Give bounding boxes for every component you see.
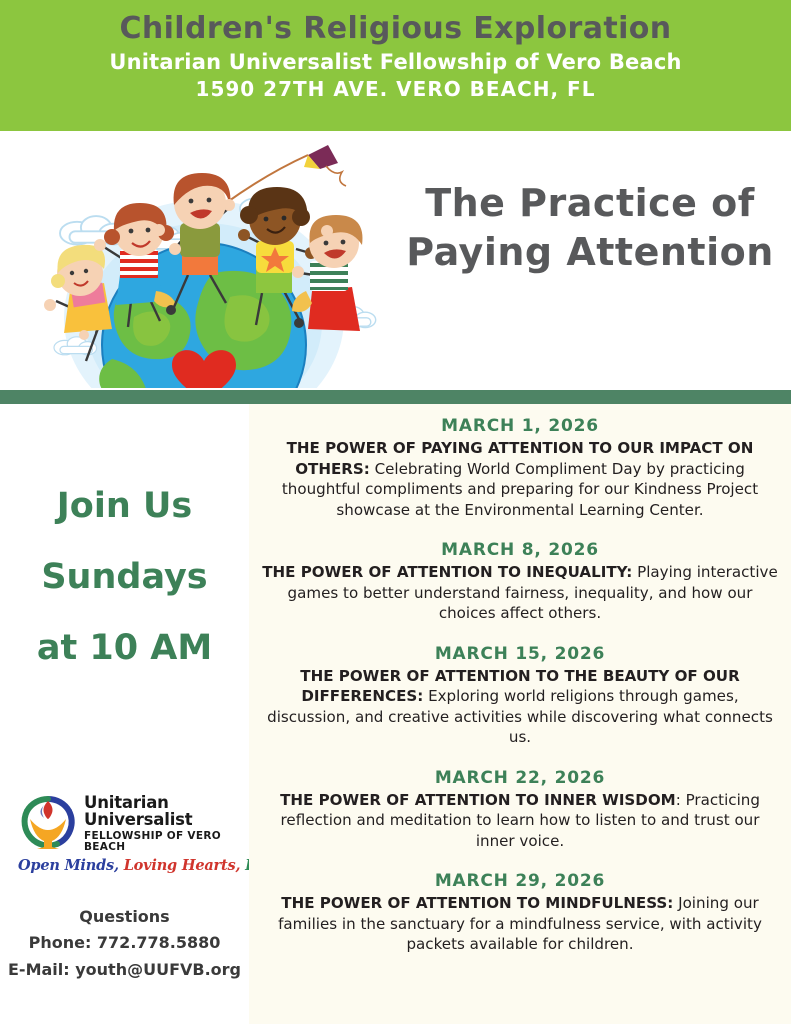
tagline-part-open-minds: Open Minds, (18, 857, 119, 874)
divider-band (0, 390, 791, 404)
event-date: March 29, 2026 (259, 871, 781, 891)
event-heading: THE POWER OF ATTENTION TO INNER WISDOM (280, 791, 676, 809)
schedule-event: March 29, 2026THE POWER OF ATTENTION TO … (259, 871, 781, 955)
page-title: Children's Religious Exploration (0, 12, 791, 45)
logo-name-line1: Unitarian Universalist (84, 794, 246, 829)
event-heading: THE POWER OF ATTENTION TO INEQUALITY: (262, 563, 632, 581)
join-us-block: Join Us Sundays at 10 AM (0, 489, 249, 666)
hero-section: The Practice of Paying Attention (0, 131, 791, 390)
uu-logo-block: Unitarian Universalist FELLOWSHIP OF VER… (18, 794, 246, 874)
join-us-line2: Sundays (0, 560, 249, 595)
address-line: 1590 27th Ave. Vero Beach, FL (0, 77, 791, 102)
event-date: March 8, 2026 (259, 540, 781, 560)
schedule-event: March 8, 2026THE POWER OF ATTENTION TO I… (259, 540, 781, 624)
event-date: March 1, 2026 (259, 416, 781, 436)
contact-email[interactable]: E-Mail: youth@UUFVB.org (0, 957, 249, 983)
schedule-event: March 15, 2026THE POWER OF ATTENTION TO … (259, 644, 781, 748)
hero-title-line1: The Practice of (395, 179, 785, 228)
schedule-event: March 1, 2026THE POWER OF PAYING ATTENTI… (259, 416, 781, 520)
contact-phone[interactable]: Phone: 772.778.5880 (0, 930, 249, 956)
event-description-block: THE POWER OF ATTENTION TO THE BEAUTY OF … (259, 666, 781, 748)
event-date: March 15, 2026 (259, 644, 781, 664)
schedule-panel: March 1, 2026THE POWER OF PAYING ATTENTI… (249, 404, 791, 1024)
organization-name: Unitarian Universalist Fellowship of Ver… (0, 49, 791, 75)
sidebar: Join Us Sundays at 10 AM Unitarian Unive… (0, 404, 249, 1024)
event-description-block: THE POWER OF ATTENTION TO INNER WISDOM: … (259, 790, 781, 852)
contact-block: Questions Phone: 772.778.5880 E-Mail: yo… (0, 904, 249, 983)
tagline-part-loving-hearts: Loving Hearts, (119, 857, 240, 874)
hero-title-line2: Paying Attention (395, 228, 785, 277)
event-heading: THE POWER OF ATTENTION TO MINDFULNESS: (281, 894, 673, 912)
hero-title: The Practice of Paying Attention (395, 179, 785, 276)
join-us-line3: at 10 AM (0, 631, 249, 666)
schedule-list: March 1, 2026THE POWER OF PAYING ATTENTI… (249, 404, 791, 955)
event-date: March 22, 2026 (259, 768, 781, 788)
event-description-block: THE POWER OF ATTENTION TO INEQUALITY: Pl… (259, 562, 781, 624)
header-bar: Children's Religious Exploration Unitari… (0, 0, 791, 131)
contact-heading: Questions (0, 904, 249, 930)
logo-tagline: Open Minds, Loving Hearts, Helping Hands (18, 857, 246, 874)
join-us-line1: Join Us (0, 489, 249, 524)
event-description-block: THE POWER OF ATTENTION TO MINDFULNESS: J… (259, 893, 781, 955)
uu-chalice-logo-icon (18, 795, 78, 851)
event-description-block: THE POWER OF PAYING ATTENTION TO OUR IMP… (259, 438, 781, 520)
children-on-globe-illustration (8, 133, 393, 388)
logo-name-line2: FELLOWSHIP OF VERO BEACH (84, 831, 246, 853)
schedule-event: March 22, 2026THE POWER OF ATTENTION TO … (259, 768, 781, 852)
